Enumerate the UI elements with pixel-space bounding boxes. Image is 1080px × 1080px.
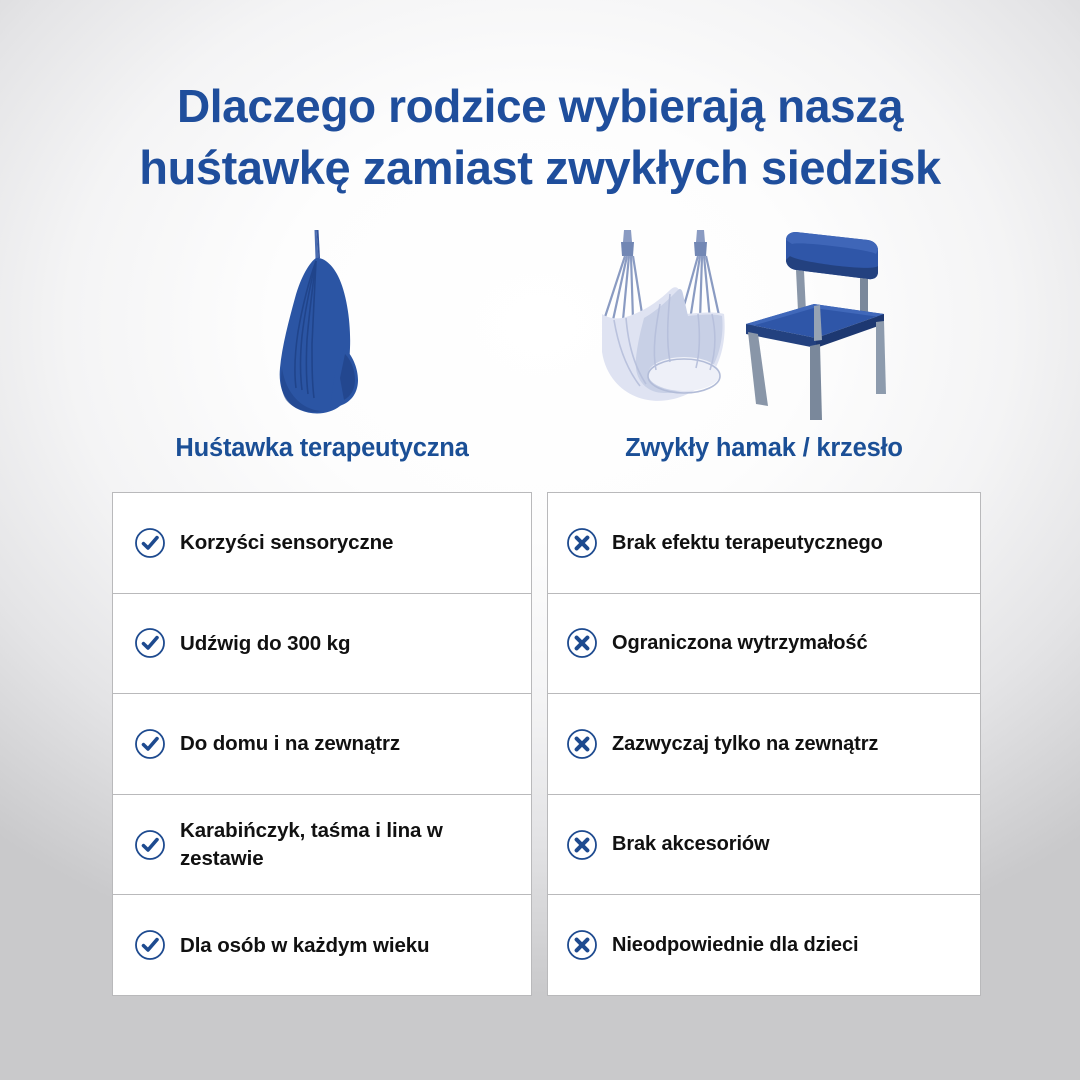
x-circle-icon xyxy=(566,929,598,961)
column-header-alternative: Zwykły hamak / krzesło xyxy=(547,434,981,463)
hanging-hammock-chair-illustration xyxy=(602,230,725,401)
therapeutic-swing-illustration xyxy=(252,228,402,423)
comparison-column-alternative: Brak efektu terapeutycznego Ograniczona … xyxy=(547,492,981,996)
list-item[interactable]: Ograniczona wytrzymałość xyxy=(547,593,981,694)
illustration-band xyxy=(0,228,1080,423)
x-circle-icon xyxy=(566,728,598,760)
page-title-line-1: Dlaczego rodzice wybierają naszą xyxy=(0,76,1080,137)
plain-chair-illustration xyxy=(746,232,886,420)
infographic-page: Dlaczego rodzice wybierają naszą huśtawk… xyxy=(0,0,1080,1080)
comparison-table: Korzyści sensoryczne Udźwig do 300 kg Do… xyxy=(0,492,1080,996)
list-item-label: Karabińczyk, taśma i lina w zestawie xyxy=(180,817,517,872)
list-item-label: Ograniczona wytrzymałość xyxy=(612,630,867,657)
list-item-label: Do domu i na zewnątrz xyxy=(180,730,400,757)
page-title: Dlaczego rodzice wybierają naszą huśtawk… xyxy=(0,76,1080,200)
list-item[interactable]: Nieodpowiednie dla dzieci xyxy=(547,894,981,996)
check-circle-icon xyxy=(134,627,166,659)
list-item[interactable]: Do domu i na zewnątrz xyxy=(112,693,532,794)
check-circle-icon xyxy=(134,728,166,760)
list-item[interactable]: Karabińczyk, taśma i lina w zestawie xyxy=(112,794,532,895)
list-item[interactable]: Brak akcesoriów xyxy=(547,794,981,895)
list-item-label: Dla osób w każdym wieku xyxy=(180,932,429,959)
check-circle-icon xyxy=(134,527,166,559)
list-item-label: Korzyści sensoryczne xyxy=(180,529,393,556)
comparison-column-swing: Korzyści sensoryczne Udźwig do 300 kg Do… xyxy=(112,492,532,996)
check-circle-icon xyxy=(134,829,166,861)
list-item[interactable]: Brak efektu terapeutycznego xyxy=(547,492,981,593)
page-title-line-2: huśtawkę zamiast zwykłych siedzisk xyxy=(0,137,1080,200)
x-circle-icon xyxy=(566,627,598,659)
list-item[interactable]: Udźwig do 300 kg xyxy=(112,593,532,694)
list-item-label: Brak akcesoriów xyxy=(612,831,769,858)
list-item-label: Udźwig do 300 kg xyxy=(180,630,350,657)
check-circle-icon xyxy=(134,929,166,961)
list-item-label: Nieodpowiednie dla dzieci xyxy=(612,932,858,959)
list-item[interactable]: Korzyści sensoryczne xyxy=(112,492,532,593)
list-item-label: Zazwyczaj tylko na zewnątrz xyxy=(612,731,878,758)
list-item-label: Brak efektu terapeutycznego xyxy=(612,530,883,557)
x-circle-icon xyxy=(566,829,598,861)
alternatives-illustration-group xyxy=(600,228,930,423)
column-header-swing: Huśtawka terapeutyczna xyxy=(112,434,532,463)
list-item[interactable]: Zazwyczaj tylko na zewnątrz xyxy=(547,693,981,794)
x-circle-icon xyxy=(566,527,598,559)
list-item[interactable]: Dla osób w każdym wieku xyxy=(112,894,532,996)
